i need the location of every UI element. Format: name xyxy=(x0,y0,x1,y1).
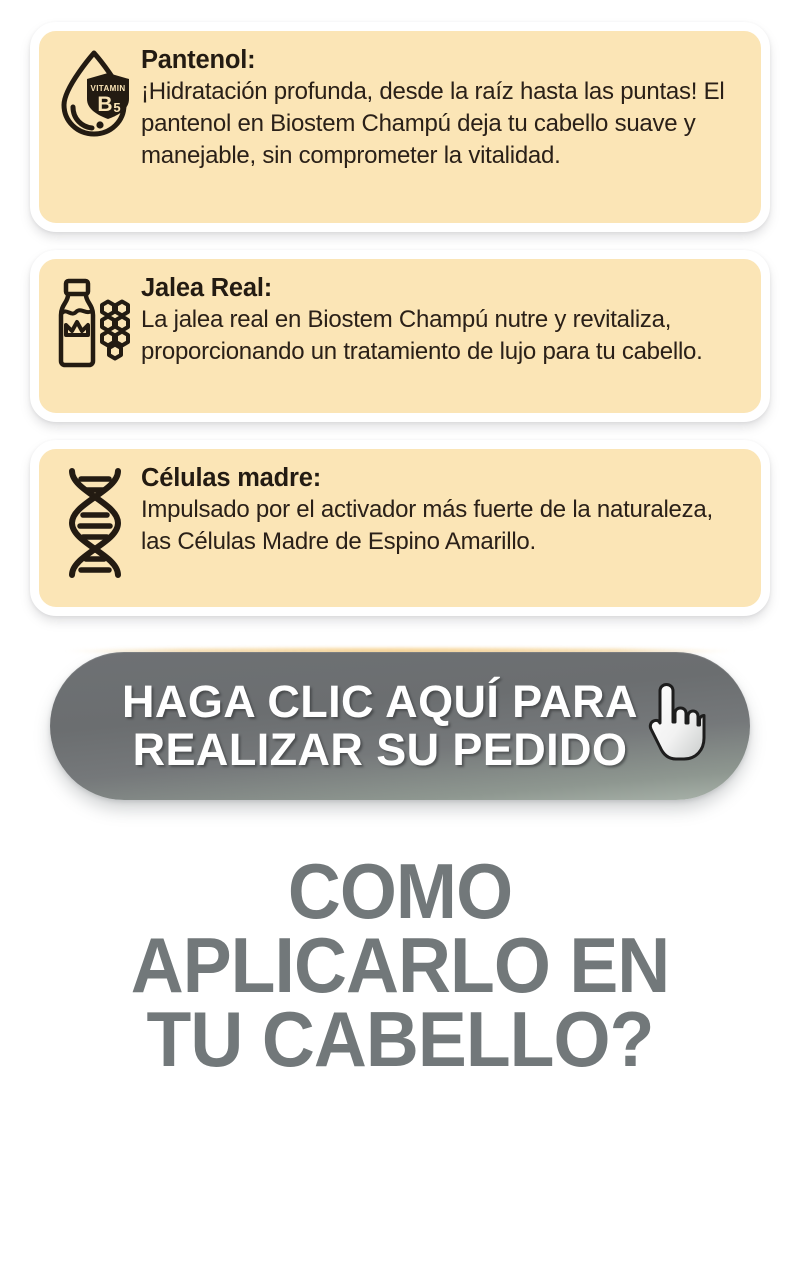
feature-card-text: ¡Hidratación profunda, desde la raíz has… xyxy=(141,76,739,172)
feature-card-jalea-real: Jalea Real: La jalea real en Biostem Cha… xyxy=(30,250,770,422)
feature-card-pantenol: VITAMIN B 5 Pantenol: ¡Hidratación profu… xyxy=(30,22,770,232)
cta-section: HAGA CLIC AQUÍ PARA REALIZAR SU PEDIDO xyxy=(0,652,800,800)
promo-page: VITAMIN B 5 Pantenol: ¡Hidratación profu… xyxy=(0,0,800,1270)
feature-card-body: Células madre: Impulsado por el activado… xyxy=(141,461,743,558)
feature-card-title: Jalea Real: xyxy=(141,273,739,303)
page-headline: COMO APLICARLO EN TU CABELLO? xyxy=(24,854,776,1076)
order-now-button[interactable]: HAGA CLIC AQUÍ PARA REALIZAR SU PEDIDO xyxy=(50,652,750,800)
feature-card-celulas-madre: Células madre: Impulsado por el activado… xyxy=(30,440,770,616)
feature-card-body: Jalea Real: La jalea real en Biostem Cha… xyxy=(141,271,743,368)
svg-text:VITAMIN: VITAMIN xyxy=(90,84,125,93)
royal-jelly-bottle-honeycomb-icon xyxy=(49,271,141,369)
dna-helix-icon xyxy=(49,461,141,587)
vitamin-b5-droplet-icon: VITAMIN B 5 xyxy=(49,43,141,139)
feature-card-text: La jalea real en Biostem Champú nutre y … xyxy=(141,304,739,368)
feature-card-title: Células madre: xyxy=(141,463,739,493)
svg-text:B: B xyxy=(97,93,112,116)
order-now-button-label: HAGA CLIC AQUÍ PARA REALIZAR SU PEDIDO xyxy=(122,678,678,773)
svg-text:5: 5 xyxy=(113,100,120,115)
feature-card-list: VITAMIN B 5 Pantenol: ¡Hidratación profu… xyxy=(0,0,800,616)
feature-card-text: Impulsado por el activador más fuerte de… xyxy=(141,494,739,558)
feature-card-title: Pantenol: xyxy=(141,45,739,75)
feature-card-body: Pantenol: ¡Hidratación profunda, desde l… xyxy=(141,43,743,172)
